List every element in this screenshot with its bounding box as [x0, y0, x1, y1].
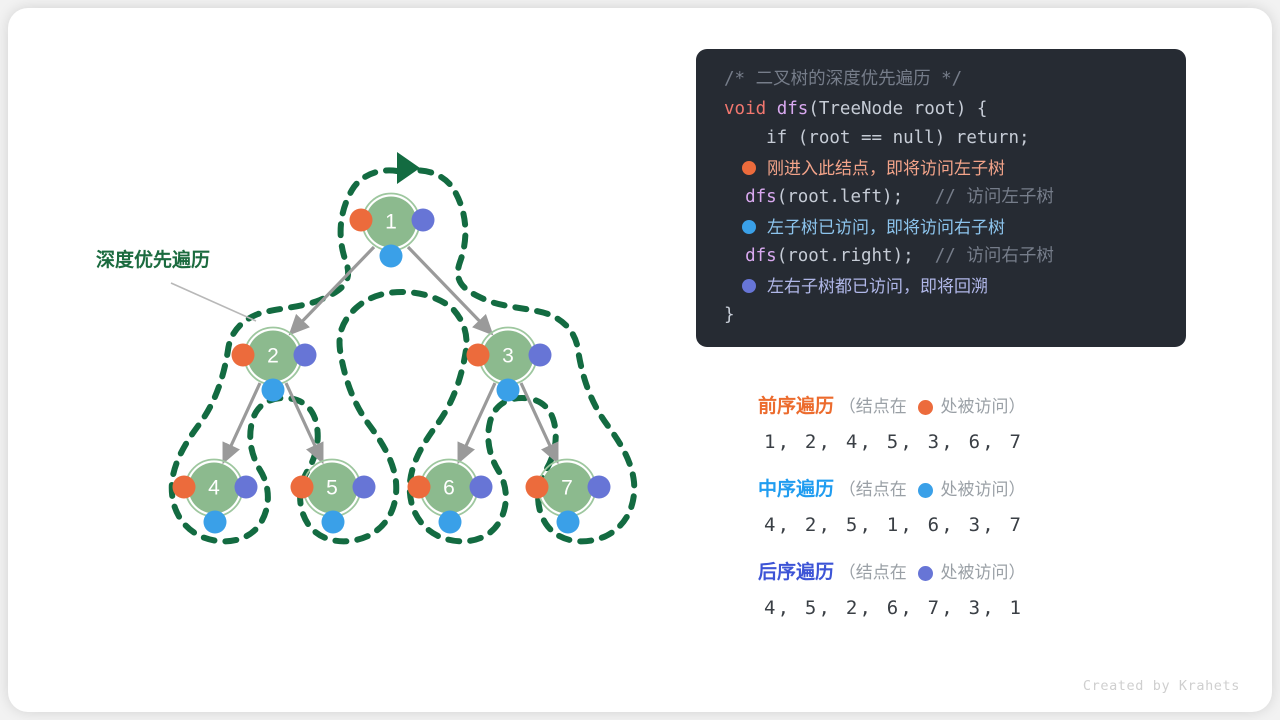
traversal-group: 中序遍历 （结点在 处被访问）4, 2, 5, 1, 6, 3, 7 — [758, 476, 1188, 548]
code-line: if (root == null) return; — [696, 124, 1186, 154]
node-2-post-dot — [294, 344, 317, 367]
code-token: /* 二叉树的深度优先遍历 */ — [724, 69, 962, 89]
node-4-in-dot — [204, 511, 227, 534]
credit-text: Created by Krahets — [1083, 678, 1240, 694]
code-token: dfs — [777, 99, 809, 119]
traversal-header: 中序遍历 （结点在 处被访问） — [758, 476, 1188, 504]
node-7-post-dot — [588, 476, 611, 499]
code-token: (TreeNode root) { — [808, 99, 987, 119]
code-annotation-line: 刚进入此结点，即将访问左子树 — [696, 154, 1186, 184]
annotation-dot-icon — [742, 220, 756, 234]
code-token: } — [724, 305, 735, 325]
traversal-title: 前序遍历 — [758, 393, 834, 421]
start-marker-icon — [397, 152, 420, 184]
code-line: /* 二叉树的深度优先遍历 */ — [696, 65, 1186, 95]
traversal-marker-dot-icon — [918, 400, 933, 415]
code-line: void dfs(TreeNode root) { — [696, 95, 1186, 125]
node-6-post-dot — [470, 476, 493, 499]
node-1-label: 1 — [385, 211, 397, 234]
annotation-text: 左子树已访问，即将访问右子树 — [767, 213, 1005, 243]
node-4-label: 4 — [208, 477, 220, 500]
caption-leader-line — [171, 283, 256, 321]
code-annotation-line: 左子树已访问，即将访问右子树 — [696, 213, 1186, 243]
code-line: } — [696, 301, 1186, 331]
tree-node-5[interactable]: 5 — [291, 460, 376, 534]
annotation-text: 刚进入此结点，即将访问左子树 — [767, 154, 1005, 184]
node-3-in-dot — [497, 379, 520, 402]
traversal-marker-dot-icon — [918, 483, 933, 498]
node-6-label: 6 — [443, 477, 455, 500]
node-3-label: 3 — [502, 345, 514, 368]
edge-1-3 — [408, 247, 491, 333]
traversal-results: 前序遍历 （结点在 处被访问）1, 2, 4, 5, 3, 6, 7中序遍历 （… — [758, 393, 1188, 642]
tree-node-7[interactable]: 7 — [526, 460, 611, 534]
node-2-pre-dot — [232, 344, 255, 367]
code-token — [766, 99, 777, 119]
code-token: (root.right); — [777, 246, 914, 266]
dfs-caption-label: 深度优先遍历 — [96, 248, 210, 271]
node-6-in-dot — [439, 511, 462, 534]
node-5-label: 5 — [326, 477, 338, 500]
traversal-sequence: 1, 2, 4, 5, 3, 6, 7 — [758, 421, 1188, 465]
node-5-in-dot — [322, 511, 345, 534]
traversal-note-open: （结点在 — [834, 476, 911, 504]
node-5-post-dot — [353, 476, 376, 499]
code-token: // 访问左子树 — [903, 187, 1054, 207]
code-token: // 访问右子树 — [914, 246, 1054, 266]
node-2-label: 2 — [267, 345, 279, 368]
tree-svg: 深度优先遍历 1 — [8, 8, 698, 712]
code-token: dfs — [724, 246, 777, 266]
node-1-pre-dot — [350, 209, 373, 232]
traversal-note-open: （结点在 — [834, 559, 911, 587]
traversal-group: 前序遍历 （结点在 处被访问）1, 2, 4, 5, 3, 6, 7 — [758, 393, 1188, 465]
traversal-group: 后序遍历 （结点在 处被访问）4, 5, 2, 6, 7, 3, 1 — [758, 559, 1188, 631]
annotation-dot-icon — [742, 279, 756, 293]
code-line: dfs(root.right); // 访问右子树 — [696, 242, 1186, 272]
node-6-pre-dot — [408, 476, 431, 499]
code-annotation-line: 左右子树都已访问，即将回溯 — [696, 272, 1186, 302]
traversal-marker-dot-icon — [918, 566, 933, 581]
screenshot-canvas: 深度优先遍历 1 — [0, 0, 1280, 720]
node-1-post-dot — [412, 209, 435, 232]
traversal-sequence: 4, 2, 5, 1, 6, 3, 7 — [758, 504, 1188, 548]
node-4-pre-dot — [173, 476, 196, 499]
code-token: dfs — [724, 187, 777, 207]
node-3-pre-dot — [467, 344, 490, 367]
tree-node-4[interactable]: 4 — [173, 460, 258, 534]
node-3-post-dot — [529, 344, 552, 367]
traversal-title: 后序遍历 — [758, 559, 834, 587]
code-token: (root.left); — [777, 187, 903, 207]
code-token: void — [724, 99, 766, 119]
tree-node-2[interactable]: 2 — [232, 328, 317, 402]
tree-node-1[interactable]: 1 — [350, 194, 435, 268]
edge-1-2 — [291, 247, 374, 333]
node-4-post-dot — [235, 476, 258, 499]
node-5-pre-dot — [291, 476, 314, 499]
traversal-sequence: 4, 5, 2, 6, 7, 3, 1 — [758, 587, 1188, 631]
node-7-in-dot — [557, 511, 580, 534]
traversal-note-close: 处被访问） — [940, 393, 1025, 421]
node-2-in-dot — [262, 379, 285, 402]
code-line: dfs(root.left); // 访问左子树 — [696, 183, 1186, 213]
node-7-pre-dot — [526, 476, 549, 499]
content-card: 深度优先遍历 1 — [8, 8, 1272, 712]
traversal-note-open: （结点在 — [834, 393, 911, 421]
tree-node-3[interactable]: 3 — [467, 328, 552, 402]
traversal-header: 后序遍历 （结点在 处被访问） — [758, 559, 1188, 587]
annotation-text: 左右子树都已访问，即将回溯 — [767, 272, 988, 302]
annotation-dot-icon — [742, 161, 756, 175]
traversal-note-close: 处被访问） — [940, 476, 1025, 504]
node-7-label: 7 — [561, 477, 573, 500]
code-block: /* 二叉树的深度优先遍历 */void dfs(TreeNode root) … — [696, 49, 1186, 347]
node-1-in-dot — [380, 245, 403, 268]
tree-diagram: 深度优先遍历 1 — [8, 8, 698, 712]
traversal-title: 中序遍历 — [758, 476, 834, 504]
traversal-header: 前序遍历 （结点在 处被访问） — [758, 393, 1188, 421]
code-token: if (root == null) return; — [724, 128, 1030, 148]
traversal-note-close: 处被访问） — [940, 559, 1025, 587]
